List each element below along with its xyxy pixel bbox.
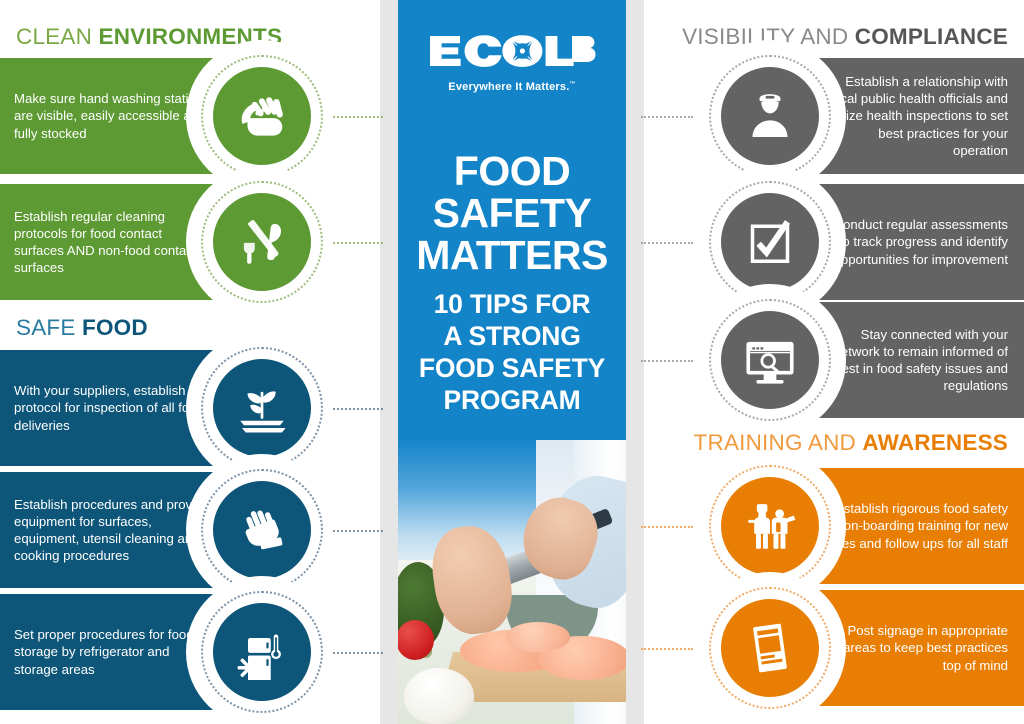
section-heading-visibility-compliance: VISIBILITY AND COMPLIANCE [682,24,1008,50]
tip-card-food-storage[interactable]: Set proper procedures for food storage b… [0,594,380,710]
section-heading-training-awareness: TRAINING AND AWARENESS [694,430,1008,456]
hero-subtitle-line: 10 TIPS FOR [398,288,626,320]
tip-card-onboarding-training[interactable]: Establish rigorous food safety on-boardi… [644,468,1024,584]
trademark-mark: ™ [569,81,575,87]
tagline-text: Everywhere It Matters. [448,81,569,93]
registered-mark: ® [588,37,594,46]
hero-photo-food-prep [398,440,626,724]
ecolab-wordmark-icon: ® [428,32,596,77]
connector-leader-line [641,526,693,528]
tip-text: Establish procedures and provide equipme… [14,496,210,565]
tip-card-post-signage[interactable]: Post signage in appropriate areas to kee… [644,590,1024,706]
tip-text: Conduct regular assessments to track pro… [824,216,1008,268]
connector-leader-line [641,360,693,362]
tip-text: With your suppliers, establish a protoco… [14,382,210,434]
hero-title-line: MATTERS [398,234,626,276]
hero-subtitle: 10 TIPS FOR A STRONG FOOD SAFETY PROGRAM [398,288,626,416]
tip-card-health-officials[interactable]: Establish a relationship with local publ… [644,58,1024,174]
health-inspector-icon [721,67,819,165]
tip-text: Stay connected with your network to rema… [824,326,1008,395]
tip-text: Set proper procedures for food storage b… [14,626,210,678]
hero-subtitle-line: PROGRAM [398,384,626,416]
hero-subtitle-line: A STRONG [398,320,626,352]
infographic-poster: CLEAN ENVIRONMENTS Make sure hand washin… [0,0,1024,724]
staff-training-icon [721,477,819,575]
hero-title-line: FOOD [398,150,626,192]
tip-text: Establish a relationship with local publ… [824,73,1008,159]
tip-card-supplier-inspection[interactable]: With your suppliers, establish a protoco… [0,350,380,466]
connector-leader-line [333,530,383,532]
tip-card-cleaning-protocols[interactable]: Establish regular cleaning protocols for… [0,184,380,300]
tip-card-stay-connected[interactable]: Stay connected with your network to rema… [644,302,1024,418]
heading-bold-part: FOOD [82,315,148,340]
cleaning-utensils-icon [213,193,311,291]
connector-leader-line [333,652,383,654]
heading-light-part: CLEAN [16,24,98,49]
heading-bold-part: COMPLIANCE [855,24,1008,49]
heading-bold-part: AWARENESS [862,430,1008,455]
center-hero-panel: ® Everywhere It Matters.™ FOOD SAFETY MA… [398,0,626,724]
hero-title-line: SAFETY [398,192,626,234]
hand-washing-icon [213,67,311,165]
right-gutter-divider [626,0,644,724]
connector-leader-line [641,242,693,244]
heading-light-part: SAFE [16,315,82,340]
connector-leader-line [641,116,693,118]
tip-text: Establish rigorous food safety on-boardi… [824,500,1008,552]
checkbox-checkmark-icon [721,193,819,291]
tip-card-equipment-cleaning[interactable]: Establish procedures and provide equipme… [0,472,380,588]
section-heading-safe-food: SAFE FOOD [16,315,148,341]
connector-leader-line [641,648,693,650]
tip-card-regular-assessments[interactable]: Conduct regular assessments to track pro… [644,184,1024,300]
crop-plants-icon [213,359,311,457]
signage-poster-icon [721,599,819,697]
connector-leader-line [333,408,383,410]
photo-raw-chicken [506,622,570,652]
tip-card-hand-washing[interactable]: Make sure hand washing stations are visi… [0,58,380,174]
hero-subtitle-line: FOOD SAFETY [398,352,626,384]
left-column: CLEAN ENVIRONMENTS Make sure hand washin… [0,0,380,724]
tip-text: Establish regular cleaning protocols for… [14,208,210,277]
refrigerator-thermometer-icon [213,603,311,701]
connector-leader-line [333,116,383,118]
ecolab-tagline: Everywhere It Matters.™ [398,81,626,93]
left-gutter-divider [380,0,398,724]
ecolab-logo: ® Everywhere It Matters.™ [398,32,626,93]
monitor-search-icon [721,311,819,409]
tip-text: Post signage in appropriate areas to kee… [824,622,1008,674]
connector-leader-line [333,242,383,244]
hero-title: FOOD SAFETY MATTERS [398,150,626,276]
gloves-icon [213,481,311,579]
photo-onion [404,668,474,724]
right-column: VISIBILITY AND COMPLIANCE Establish a re… [644,0,1024,724]
tip-text: Make sure hand washing stations are visi… [14,90,210,142]
